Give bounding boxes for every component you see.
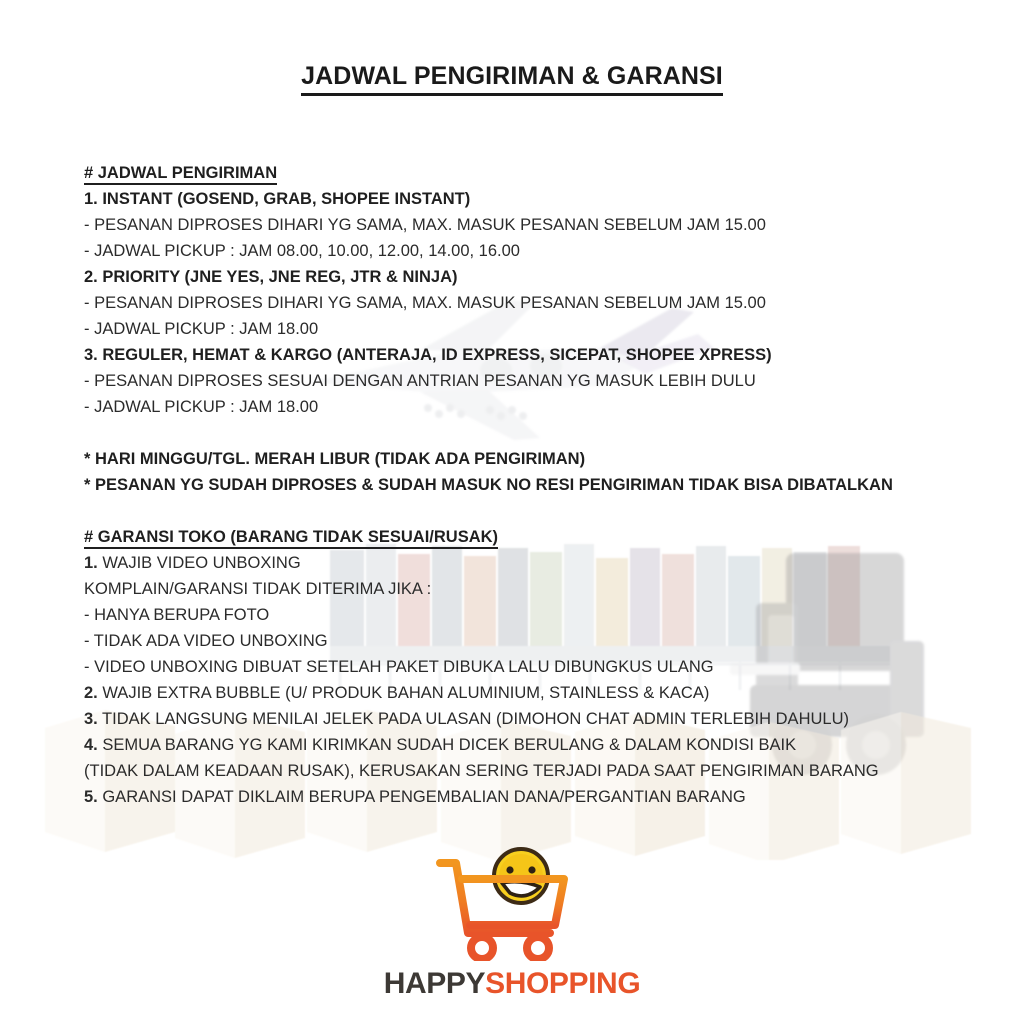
page-title: JADWAL PENGIRIMAN & GARANSI (0, 62, 1024, 91)
list-item: 3. REGULER, HEMAT & KARGO (ANTERAJA, ID … (84, 342, 984, 368)
list-item: - JADWAL PICKUP : JAM 18.00 (84, 394, 984, 420)
list-item: 4. SEMUA BARANG YG KAMI KIRIMKAN SUDAH D… (84, 732, 984, 758)
list-item: - PESANAN DIPROSES DIHARI YG SAMA, MAX. … (84, 212, 984, 238)
list-item: - JADWAL PICKUP : JAM 08.00, 10.00, 12.0… (84, 238, 984, 264)
list-item: - PESANAN DIPROSES SESUAI DENGAN ANTRIAN… (84, 368, 984, 394)
list-item: - TIDAK ADA VIDEO UNBOXING (84, 628, 984, 654)
list-item: KOMPLAIN/GARANSI TIDAK DITERIMA JIKA : (84, 576, 984, 602)
section-heading-garansi-toko: # GARANSI TOKO (BARANG TIDAK SESUAI/RUSA… (84, 524, 984, 550)
list-number: 2. (84, 684, 98, 702)
list-item: 5. GARANSI DAPAT DIKLAIM BERUPA PENGEMBA… (84, 784, 984, 810)
spacer (84, 420, 984, 446)
list-item: - VIDEO UNBOXING DIBUAT SETELAH PAKET DI… (84, 654, 984, 680)
section-heading-text: # GARANSI TOKO (BARANG TIDAK SESUAI/RUSA… (84, 528, 498, 549)
list-item: 2. PRIORITY (JNE YES, JNE REG, JTR & NIN… (84, 264, 984, 290)
list-item: 1. INSTANT (GOSEND, GRAB, SHOPEE INSTANT… (84, 186, 984, 212)
section-heading-text: # JADWAL PENGIRIMAN (84, 164, 277, 185)
list-item: - JADWAL PICKUP : JAM 18.00 (84, 316, 984, 342)
list-text: WAJIB EXTRA BUBBLE (U/ PRODUK BAHAN ALUM… (98, 684, 710, 702)
list-item: - PESANAN DIPROSES DIHARI YG SAMA, MAX. … (84, 290, 984, 316)
body-text-block: # JADWAL PENGIRIMAN 1. INSTANT (GOSEND, … (84, 160, 984, 810)
shopping-cart-smiley-icon (422, 845, 602, 961)
brand-wordmark: HAPPYSHOPPING (0, 967, 1024, 1001)
list-text: SEMUA BARANG YG KAMI KIRIMKAN SUDAH DICE… (98, 736, 796, 754)
wordmark-shopping: SHOPPING (485, 967, 640, 1000)
page-title-text: JADWAL PENGIRIMAN & GARANSI (301, 62, 723, 96)
list-text: GARANSI DAPAT DIKLAIM BERUPA PENGEMBALIA… (98, 788, 746, 806)
list-text: TIDAK LANGSUNG MENILAI JELEK PADA ULASAN… (98, 710, 849, 728)
wordmark-happy: HAPPY (384, 967, 485, 1000)
brand-logo: HAPPYSHOPPING (0, 845, 1024, 1001)
section-heading-jadwal-pengiriman: # JADWAL PENGIRIMAN (84, 160, 984, 186)
spacer (84, 498, 984, 524)
shipping-warranty-infographic: JADWAL PENGIRIMAN & GARANSI # JADWAL PEN… (0, 0, 1024, 1024)
list-number: 4. (84, 736, 98, 754)
list-number: 3. (84, 710, 98, 728)
list-number: 5. (84, 788, 98, 806)
note-line: * HARI MINGGU/TGL. MERAH LIBUR (TIDAK AD… (84, 446, 984, 472)
list-item: 2. WAJIB EXTRA BUBBLE (U/ PRODUK BAHAN A… (84, 680, 984, 706)
list-item: 3. TIDAK LANGSUNG MENILAI JELEK PADA ULA… (84, 706, 984, 732)
list-item: 1. WAJIB VIDEO UNBOXING (84, 550, 984, 576)
list-number: 1. (84, 554, 98, 572)
list-item: (TIDAK DALAM KEADAAN RUSAK), KERUSAKAN S… (84, 758, 984, 784)
list-item: - HANYA BERUPA FOTO (84, 602, 984, 628)
list-text: WAJIB VIDEO UNBOXING (98, 554, 301, 572)
note-line: * PESANAN YG SUDAH DIPROSES & SUDAH MASU… (84, 472, 984, 498)
